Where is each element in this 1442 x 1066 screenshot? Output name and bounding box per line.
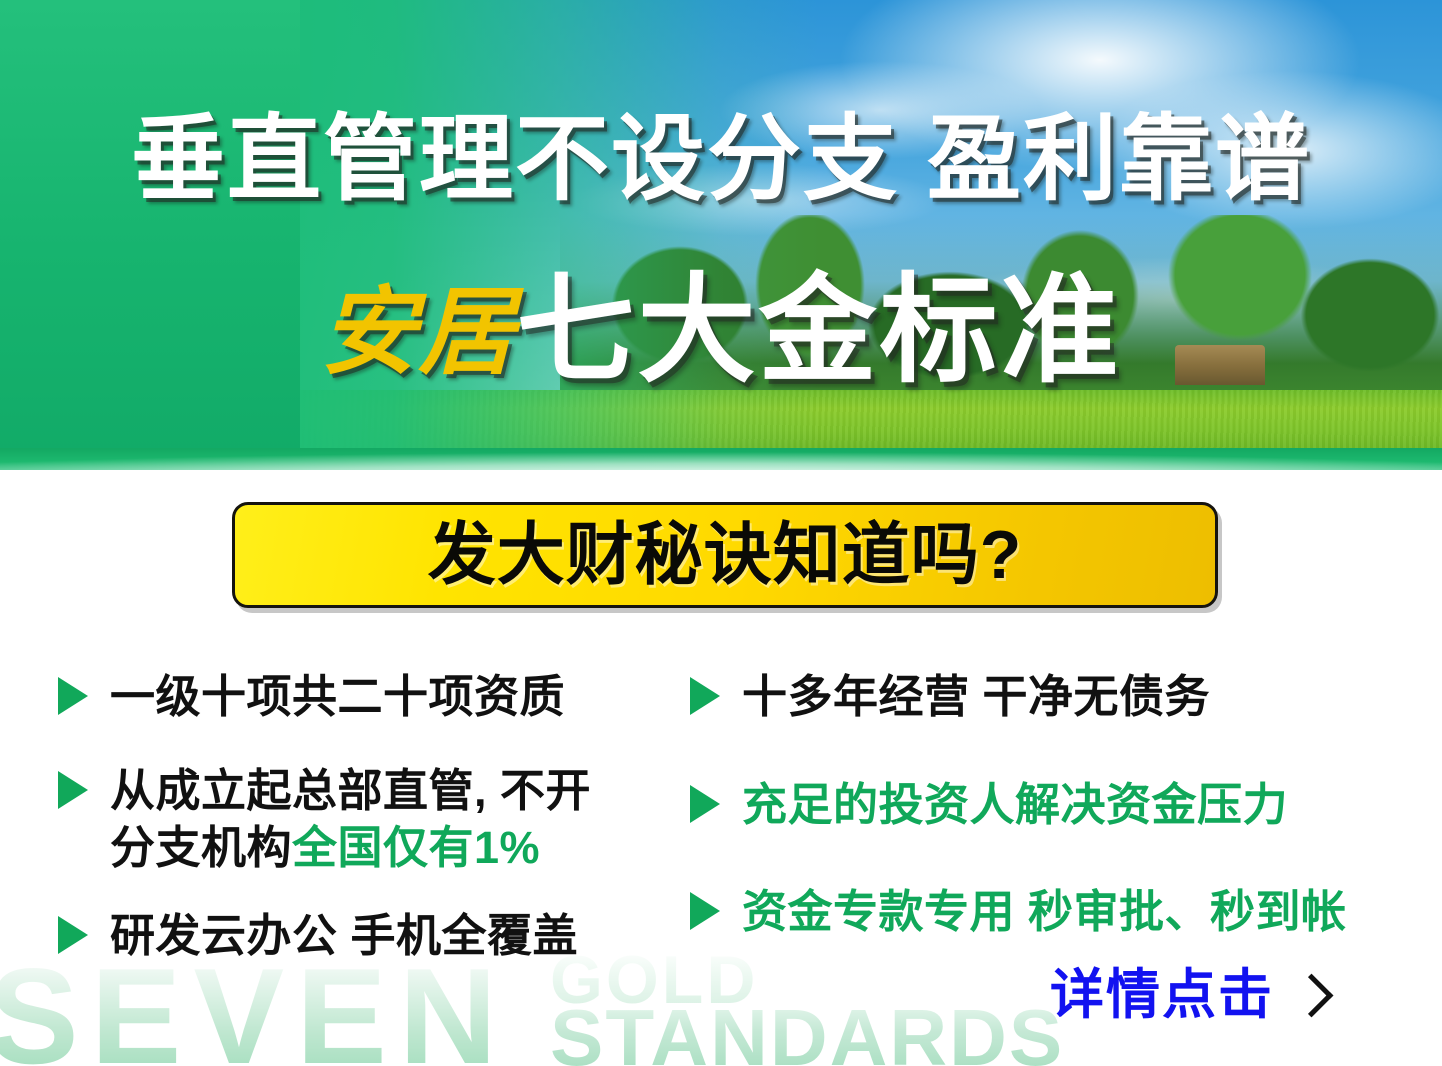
list-item: 充足的投资人解决资金压力 [690, 776, 1430, 834]
features-column-left: 一级十项共二十项资质 从成立起总部直管, 不开 分支机构全国仅有1% 研发云办公… [58, 668, 698, 992]
list-item: 一级十项共二十项资质 [58, 668, 698, 726]
watermark-standards: STANDARDS [550, 998, 1064, 1066]
list-item: 资金专款专用 秒审批、秒到帐 [690, 883, 1430, 941]
list-item-label: 一级十项共二十项资质 [110, 668, 565, 726]
banner-label: 发大财秘诀知道吗? [428, 521, 1023, 589]
hero-brand-word: 安居 [320, 279, 516, 386]
list-item-highlight: 全国仅有1% [292, 822, 540, 873]
triangle-bullet-icon [58, 677, 88, 715]
highlight-question-banner[interactable]: 发大财秘诀知道吗? [232, 502, 1218, 608]
triangle-bullet-icon [58, 916, 88, 954]
hero-headline: 垂直管理不设分支 盈利靠谱 [0, 112, 1442, 206]
hero-banner: 垂直管理不设分支 盈利靠谱 安居七大金标准 [0, 0, 1442, 470]
chevron-right-icon [1290, 973, 1334, 1017]
list-item-label: 从成立起总部直管, 不开 分支机构全国仅有1% [110, 762, 591, 877]
list-item: 从成立起总部直管, 不开 分支机构全国仅有1% [58, 762, 698, 877]
details-link[interactable]: 详情点击 [1050, 968, 1327, 1022]
triangle-bullet-icon [690, 892, 720, 930]
list-item-label: 资金专款专用 秒审批、秒到帐 [742, 883, 1347, 941]
triangle-bullet-icon [58, 771, 88, 809]
list-item: 十多年经营 干净无债务 [690, 668, 1430, 726]
triangle-bullet-icon [690, 677, 720, 715]
hero-main-word: 七大金标准 [516, 265, 1121, 397]
hero-white-curve-divider [0, 452, 1442, 470]
promo-poster: 垂直管理不设分支 盈利靠谱 安居七大金标准 发大财秘诀知道吗? 一级十项共二十项… [0, 0, 1442, 1066]
hero-subheadline: 安居七大金标准 [0, 272, 1442, 390]
list-item-label: 充足的投资人解决资金压力 [742, 776, 1288, 834]
details-link-label: 详情点击 [1050, 968, 1274, 1022]
list-item-label: 十多年经营 干净无债务 [742, 668, 1210, 726]
list-item: 研发云办公 手机全覆盖 [58, 907, 698, 965]
triangle-bullet-icon [690, 785, 720, 823]
list-item-label: 研发云办公 手机全覆盖 [110, 907, 578, 965]
features-column-right: 十多年经营 干净无债务 充足的投资人解决资金压力 资金专款专用 秒审批、秒到帐 [690, 668, 1430, 991]
